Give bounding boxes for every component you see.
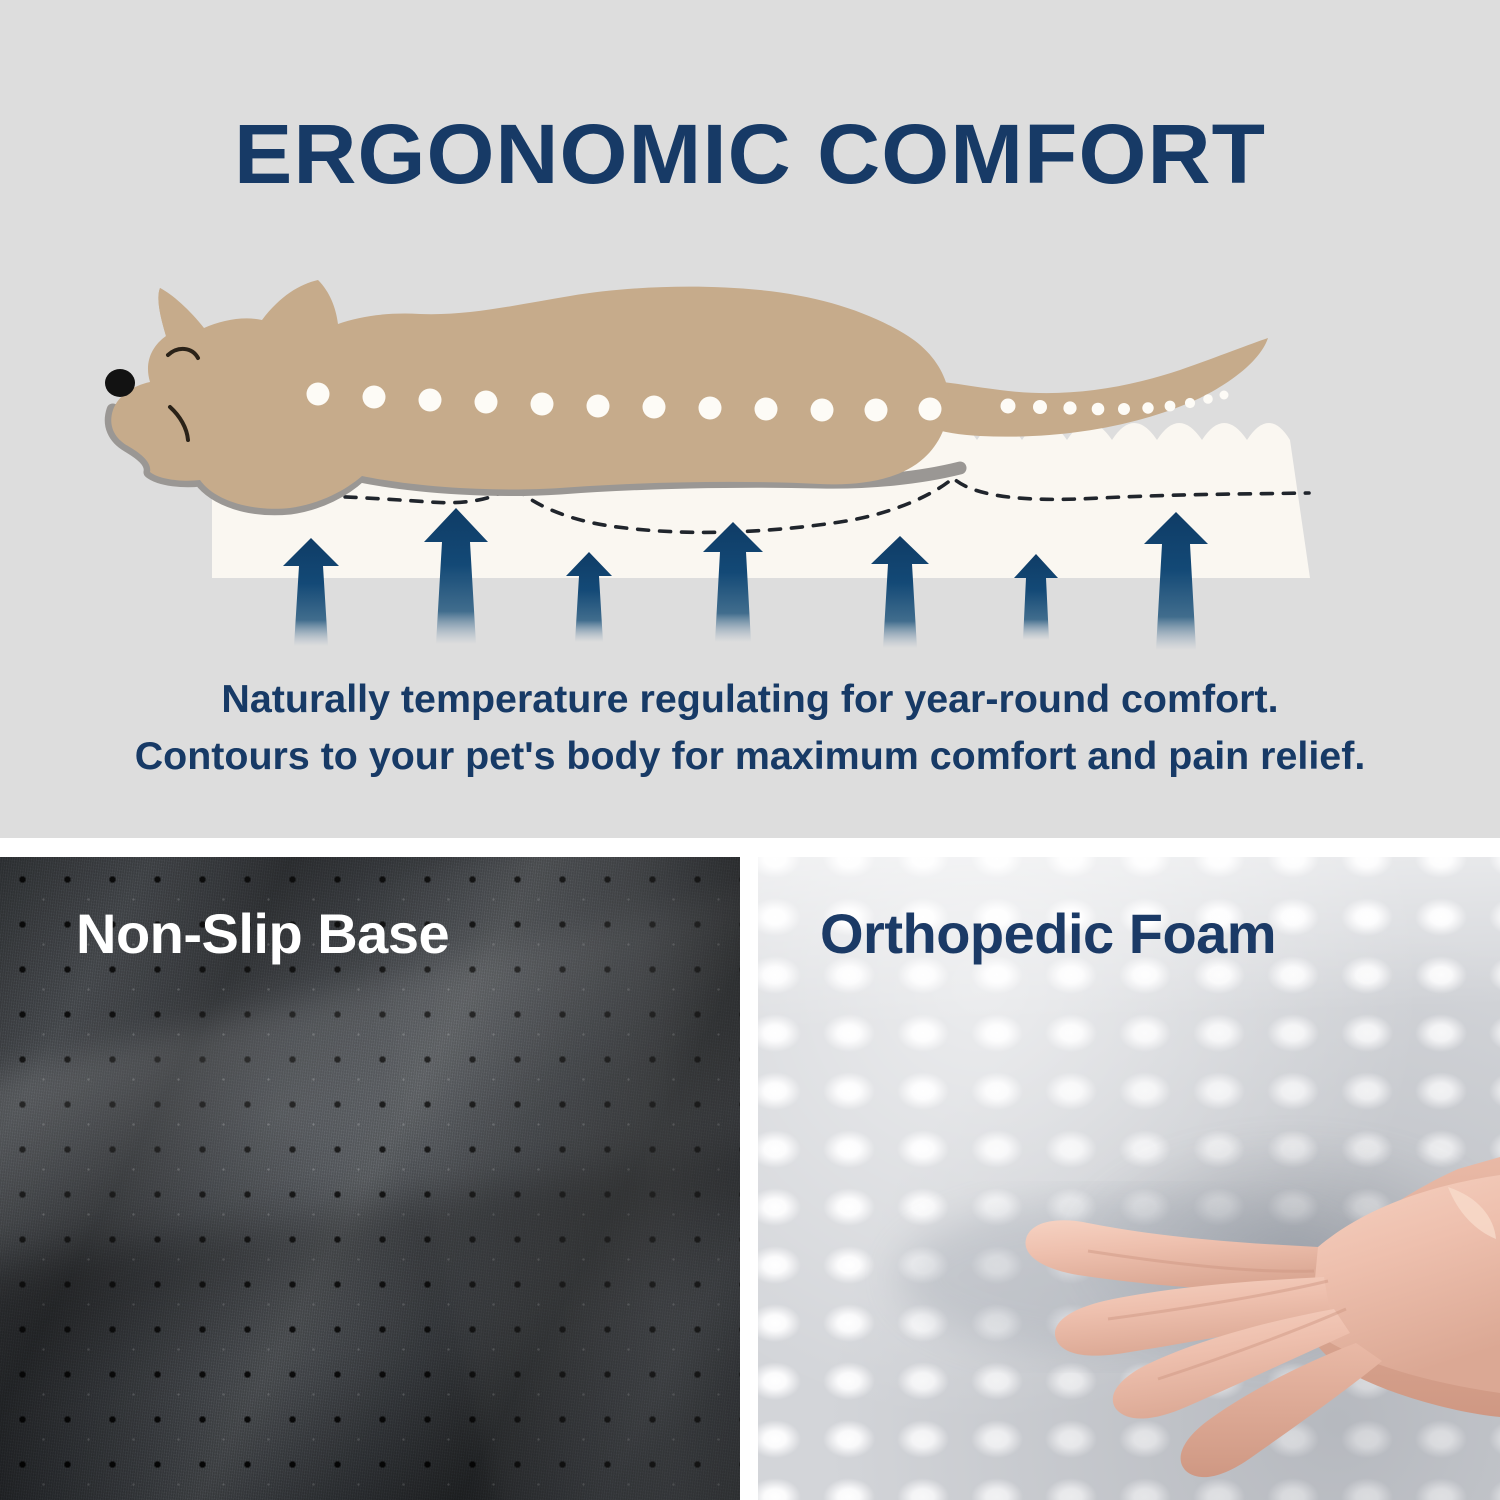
ergonomic-comfort-section: ERGONOMIC COMFORT [0, 0, 1500, 838]
panel-orthopedic-foam: Orthopedic Foam [758, 857, 1500, 1500]
infographic-canvas: ERGONOMIC COMFORT [0, 0, 1500, 1500]
feature-description: Naturally temperature regulating for yea… [0, 672, 1500, 785]
description-line-1: Naturally temperature regulating for yea… [0, 672, 1500, 729]
dog-body [111, 280, 949, 509]
feature-panels: Non-Slip Base [0, 857, 1500, 1500]
dog-on-mattress-illustration [0, 250, 1500, 650]
panel-label-orthopedic-foam: Orthopedic Foam [820, 901, 1276, 966]
panel-label-non-slip-base: Non-Slip Base [76, 901, 449, 966]
panel-non-slip-base: Non-Slip Base [0, 857, 740, 1500]
page-title: ERGONOMIC COMFORT [0, 112, 1500, 196]
description-line-2: Contours to your pet's body for maximum … [0, 729, 1500, 786]
dog-nose [105, 369, 135, 397]
dog-ear [158, 288, 210, 344]
dog-tail [898, 338, 1268, 437]
